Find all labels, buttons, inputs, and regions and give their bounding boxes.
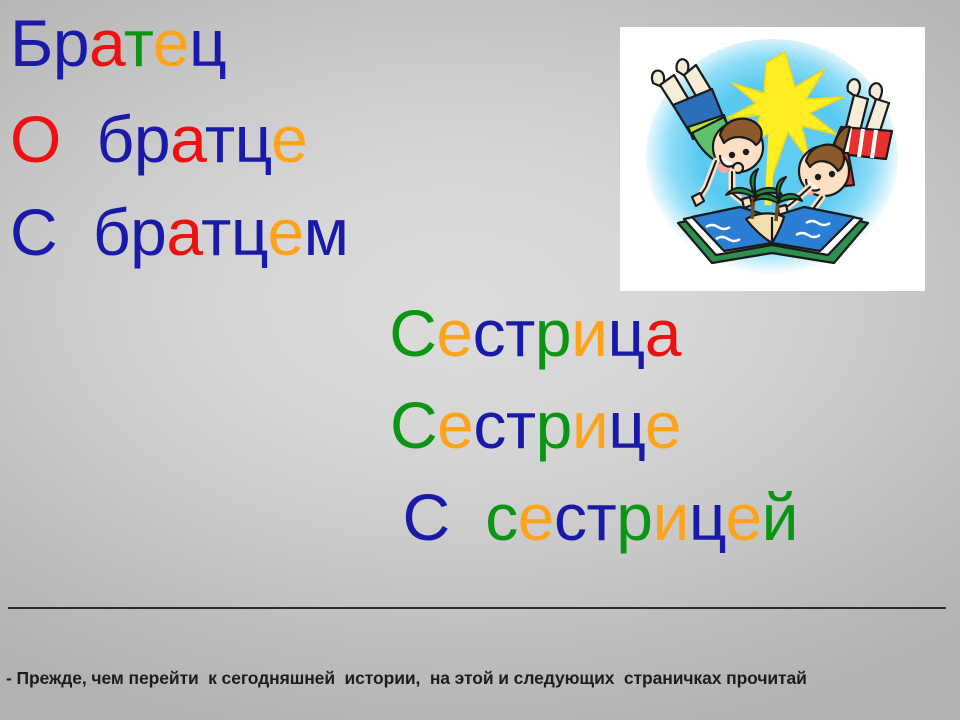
letter-s-sestricey-8: ц	[689, 480, 726, 554]
letter-s-sestricey-4: с	[554, 480, 587, 554]
letter-sestrica-2: с	[473, 296, 506, 370]
word-line-s-sestricey: С сестрицей	[402, 484, 798, 550]
letter-bratec-2: а	[89, 6, 124, 80]
letter-s-sestricey-3: е	[518, 480, 554, 554]
letter-s-bratcem-1	[57, 195, 93, 269]
word-line-sestrica: Сестрица	[389, 300, 681, 366]
letter-s-bratcem-3: р	[130, 195, 166, 269]
letter-sestrica-7: а	[645, 296, 681, 370]
clipart-children-diving-into-book	[620, 27, 925, 291]
letter-o-bratce-2: б	[97, 102, 134, 176]
word-line-sestrice: Сестрице	[390, 392, 681, 458]
note-text-block: - Прежде, чем перейти к сегодняшней исто…	[6, 612, 954, 720]
letter-s-bratcem-0: С	[10, 195, 57, 269]
letter-sestrice-6: ц	[608, 388, 645, 462]
letter-s-sestricey-0: С	[402, 480, 449, 554]
letter-bratec-4: е	[153, 6, 189, 80]
letter-s-bratcem-5: т	[201, 195, 231, 269]
letter-bratec-0: Б	[10, 6, 53, 80]
letter-o-bratce-6: ц	[235, 102, 272, 176]
letter-o-bratce-7: е	[271, 102, 307, 176]
word-line-o-bratce: О братце	[10, 106, 307, 172]
letter-sestrica-0: С	[389, 296, 436, 370]
letter-sestrica-1: е	[436, 296, 472, 370]
note-divider	[8, 607, 946, 609]
note-line: - Прежде, чем перейти к сегодняшней исто…	[6, 665, 954, 692]
letter-o-bratce-5: т	[205, 102, 235, 176]
clipart-svg	[620, 27, 925, 291]
letter-sestrica-4: р	[535, 296, 571, 370]
letter-sestrica-5: и	[571, 296, 607, 370]
letter-sestrice-3: т	[506, 388, 536, 462]
letter-s-bratcem-7: е	[267, 195, 303, 269]
letter-s-sestricey-6: р	[616, 480, 652, 554]
word-line-bratec: Братец	[10, 10, 226, 76]
letter-s-bratcem-2: б	[93, 195, 130, 269]
letter-bratec-1: р	[53, 6, 89, 80]
letter-s-sestricey-7: и	[652, 480, 688, 554]
letter-sestrice-4: р	[536, 388, 572, 462]
letter-sestrice-0: С	[390, 388, 437, 462]
letter-sestrice-1: е	[437, 388, 473, 462]
letter-s-bratcem-8: м	[304, 195, 349, 269]
word-line-s-bratcem: С братцем	[10, 199, 349, 265]
letter-s-bratcem-6: ц	[231, 195, 268, 269]
letter-s-sestricey-9: е	[725, 480, 761, 554]
letter-o-bratce-1	[61, 102, 97, 176]
letter-o-bratce-3: р	[134, 102, 170, 176]
letter-sestrice-7: е	[645, 388, 681, 462]
letter-s-bratcem-4: а	[166, 195, 201, 269]
letter-s-sestricey-2: с	[485, 480, 518, 554]
letter-s-sestricey-10: й	[762, 480, 798, 554]
letter-s-sestricey-1	[450, 480, 486, 554]
letter-o-bratce-0: О	[10, 102, 61, 176]
letter-bratec-5: ц	[189, 6, 226, 80]
letter-sestrice-2: с	[473, 388, 506, 462]
letter-sestrica-6: ц	[607, 296, 644, 370]
letter-bratec-3: т	[124, 6, 153, 80]
slide-canvas: Братец О братце С братцем Сестрица Сестр…	[0, 0, 960, 720]
letter-sestrice-5: и	[572, 388, 608, 462]
letter-s-sestricey-5: т	[587, 480, 617, 554]
letter-o-bratce-4: а	[170, 102, 205, 176]
letter-sestrica-3: т	[505, 296, 535, 370]
